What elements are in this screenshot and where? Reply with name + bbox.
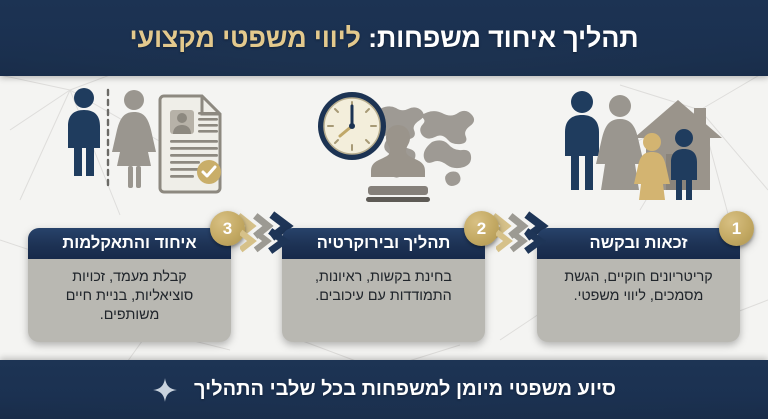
step-body-3: קבלת מעמד, זכויות סוציאליות, בניית חיים … — [28, 259, 231, 342]
header-bar: תהליך איחוד משפחות: ליווי משפטי מקצועי — [0, 0, 768, 76]
step-card-1[interactable]: 1 זכאות ובקשה קריטריונים חוקיים, הגשת מס… — [537, 228, 740, 342]
step-badge-2: 2 — [464, 211, 499, 246]
page-title: תהליך איחוד משפחות: ליווי משפטי מקצועי — [130, 23, 639, 54]
step-title-2: תהליך ובירוקרטיה — [282, 228, 485, 259]
clock-icon — [318, 92, 386, 160]
step-card-2[interactable]: 2 תהליך ובירוקרטיה בחינת בקשות, ראיונות,… — [282, 228, 485, 342]
father-figure-icon — [565, 91, 599, 190]
infographic-canvas: תהליך איחוד משפחות: ליווי משפטי מקצועי — [0, 0, 768, 419]
step-badge-1: 1 — [719, 211, 754, 246]
sparkle-icon — [152, 377, 178, 403]
chevron-arrow-4 — [496, 228, 548, 259]
step-title-3: איחוד והתאקלמות — [28, 228, 231, 259]
bureaucracy-illustration — [300, 76, 480, 206]
page-title-white: תהליך איחוד משפחות: — [368, 23, 638, 53]
step-card-3[interactable]: 3 איחוד והתאקלמות קבלת מעמד, זכויות סוצי… — [28, 228, 231, 342]
step-body-2: בחינת בקשות, ראיונות, התמודדות עם עיכובי… — [282, 259, 485, 342]
female-figure-icon — [112, 90, 156, 188]
reunification-illustration — [558, 76, 738, 206]
step-title-1: זכאות ובקשה — [537, 228, 740, 259]
footer-text: סיוע משפטי מיומן למשפחות בכל שלבי התהליך — [194, 378, 616, 401]
male-figure-icon — [68, 88, 100, 176]
footer-bar: סיוע משפטי מיומן למשפחות בכל שלבי התהליך — [0, 360, 768, 419]
steps-container: 1 זכאות ובקשה קריטריונים חוקיים, הגשת מס… — [0, 205, 768, 355]
check-badge-icon — [197, 160, 221, 184]
page-title-gold: ליווי משפטי מקצועי — [130, 23, 361, 53]
step-body-1: קריטריונים חוקיים, הגשת מסמכים, ליווי מש… — [537, 259, 740, 342]
illustration-band — [0, 76, 768, 206]
eligibility-illustration — [60, 76, 230, 206]
document-with-photo-icon — [160, 96, 221, 192]
chevron-arrow-3 — [240, 228, 292, 259]
